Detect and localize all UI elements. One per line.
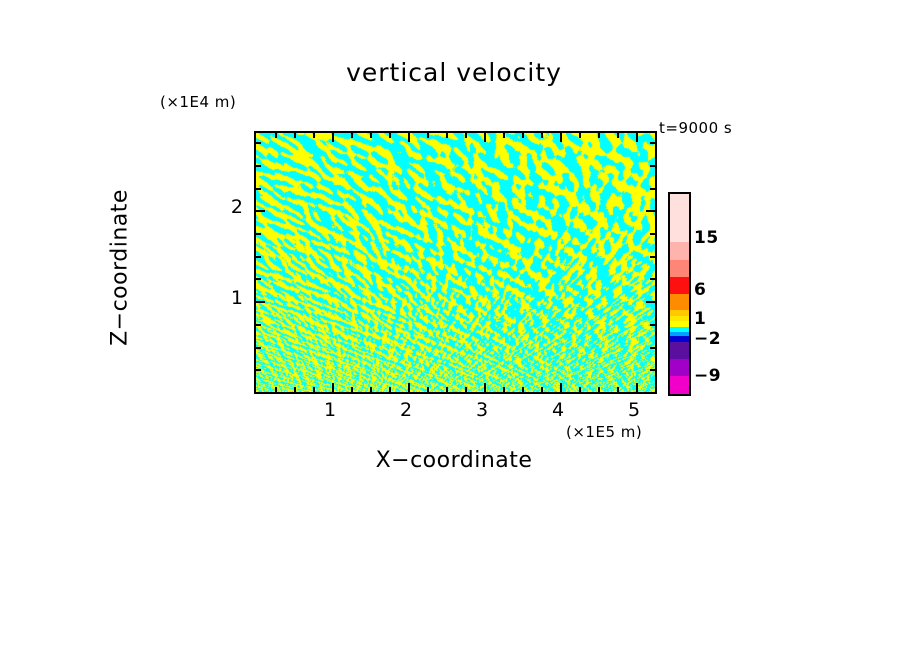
y-tick-right — [650, 233, 655, 235]
x-tick-top — [332, 133, 334, 142]
x-tick-top — [636, 133, 638, 142]
y-tick-right — [650, 324, 655, 326]
colorbar-band-4 — [670, 294, 689, 311]
x-tick-bottom — [427, 387, 429, 392]
x-tick-bottom — [541, 387, 543, 392]
x-tick-top — [427, 133, 429, 138]
colorbar-label-2: 1 — [694, 309, 706, 329]
x-tick-top — [408, 133, 410, 142]
x-tick-top — [446, 133, 448, 138]
y-tick-right — [650, 165, 655, 167]
y-tick-left — [256, 142, 261, 144]
x-tick-bottom — [636, 383, 638, 392]
x-tick-bottom — [313, 387, 315, 392]
x-tick-bottom — [598, 387, 600, 392]
x-tick-top — [294, 133, 296, 138]
y-tick-left — [256, 188, 261, 190]
time-annotation: t=9000 s — [659, 119, 732, 137]
x-tick-top — [541, 133, 543, 138]
x-tick-top — [522, 133, 524, 138]
y-tick-left — [256, 256, 261, 258]
colorbar-band-3 — [670, 277, 689, 294]
y-tick-left — [256, 210, 265, 212]
y-tick-left — [256, 324, 261, 326]
x-tick-bottom — [465, 387, 467, 392]
y-tick-left — [256, 165, 261, 167]
x-tick-bottom — [484, 383, 486, 392]
x-tick-top — [617, 133, 619, 138]
y-tick-left — [256, 347, 261, 349]
colorbar-band-0 — [670, 194, 689, 242]
x-tick-bottom — [370, 387, 372, 392]
x-tick-bottom — [617, 387, 619, 392]
colorbar-label-0: 15 — [694, 228, 719, 248]
colorbar — [668, 192, 691, 396]
x-tick-label-5: 5 — [619, 399, 649, 421]
y-tick-left — [256, 369, 261, 371]
x-tick-top — [560, 133, 562, 142]
colorbar-band-1 — [670, 242, 689, 260]
y-tick-right — [650, 256, 655, 258]
y-tick-right — [650, 347, 655, 349]
x-tick-top — [389, 133, 391, 138]
colorbar-band-12 — [670, 359, 689, 376]
x-tick-bottom — [275, 387, 277, 392]
y-tick-right — [646, 301, 655, 303]
x-tick-top — [275, 133, 277, 138]
x-tick-bottom — [408, 383, 410, 392]
x-tick-bottom — [389, 387, 391, 392]
x-tick-bottom — [522, 387, 524, 392]
velocity-field-heatmap — [256, 133, 655, 392]
x-axis-title: X−coordinate — [254, 448, 654, 473]
plot-area — [254, 131, 657, 394]
colorbar-label-1: 6 — [694, 280, 706, 300]
y-tick-right — [650, 369, 655, 371]
y-tick-right — [650, 278, 655, 280]
x-tick-label-3: 3 — [467, 399, 497, 421]
y-tick-left — [256, 301, 265, 303]
x-tick-top — [503, 133, 505, 138]
y-tick-right — [650, 142, 655, 144]
page-title: vertical velocity — [254, 58, 654, 87]
y-tick-label-2: 2 — [213, 196, 243, 218]
x-tick-bottom — [503, 387, 505, 392]
x-tick-top — [579, 133, 581, 138]
colorbar-label-3: −2 — [694, 329, 721, 349]
x-tick-bottom — [351, 387, 353, 392]
colorbar-label-4: −9 — [694, 366, 721, 386]
x-tick-top — [598, 133, 600, 138]
x-tick-top — [484, 133, 486, 142]
colorbar-band-2 — [670, 260, 689, 277]
x-axis-unit-label: (×1E5 m) — [566, 423, 642, 441]
x-tick-bottom — [294, 387, 296, 392]
x-tick-label-2: 2 — [391, 399, 421, 421]
x-tick-bottom — [579, 387, 581, 392]
colorbar-band-11 — [670, 342, 689, 359]
x-tick-top — [465, 133, 467, 138]
x-tick-bottom — [560, 383, 562, 392]
x-tick-label-1: 1 — [315, 399, 345, 421]
y-tick-right — [650, 188, 655, 190]
x-tick-bottom — [446, 387, 448, 392]
x-tick-label-4: 4 — [543, 399, 573, 421]
x-tick-top — [313, 133, 315, 138]
y-axis-unit-label: (×1E4 m) — [160, 93, 236, 111]
y-tick-left — [256, 233, 261, 235]
y-tick-left — [256, 278, 261, 280]
y-tick-right — [646, 210, 655, 212]
figure-canvas: vertical velocity (×1E4 m) (×1E5 m) X−co… — [0, 0, 904, 654]
x-tick-bottom — [332, 383, 334, 392]
y-axis-title: Z−coordinate — [108, 138, 133, 398]
y-tick-label-1: 1 — [213, 287, 243, 309]
x-tick-top — [370, 133, 372, 138]
x-tick-top — [351, 133, 353, 138]
colorbar-band-13 — [670, 376, 689, 393]
